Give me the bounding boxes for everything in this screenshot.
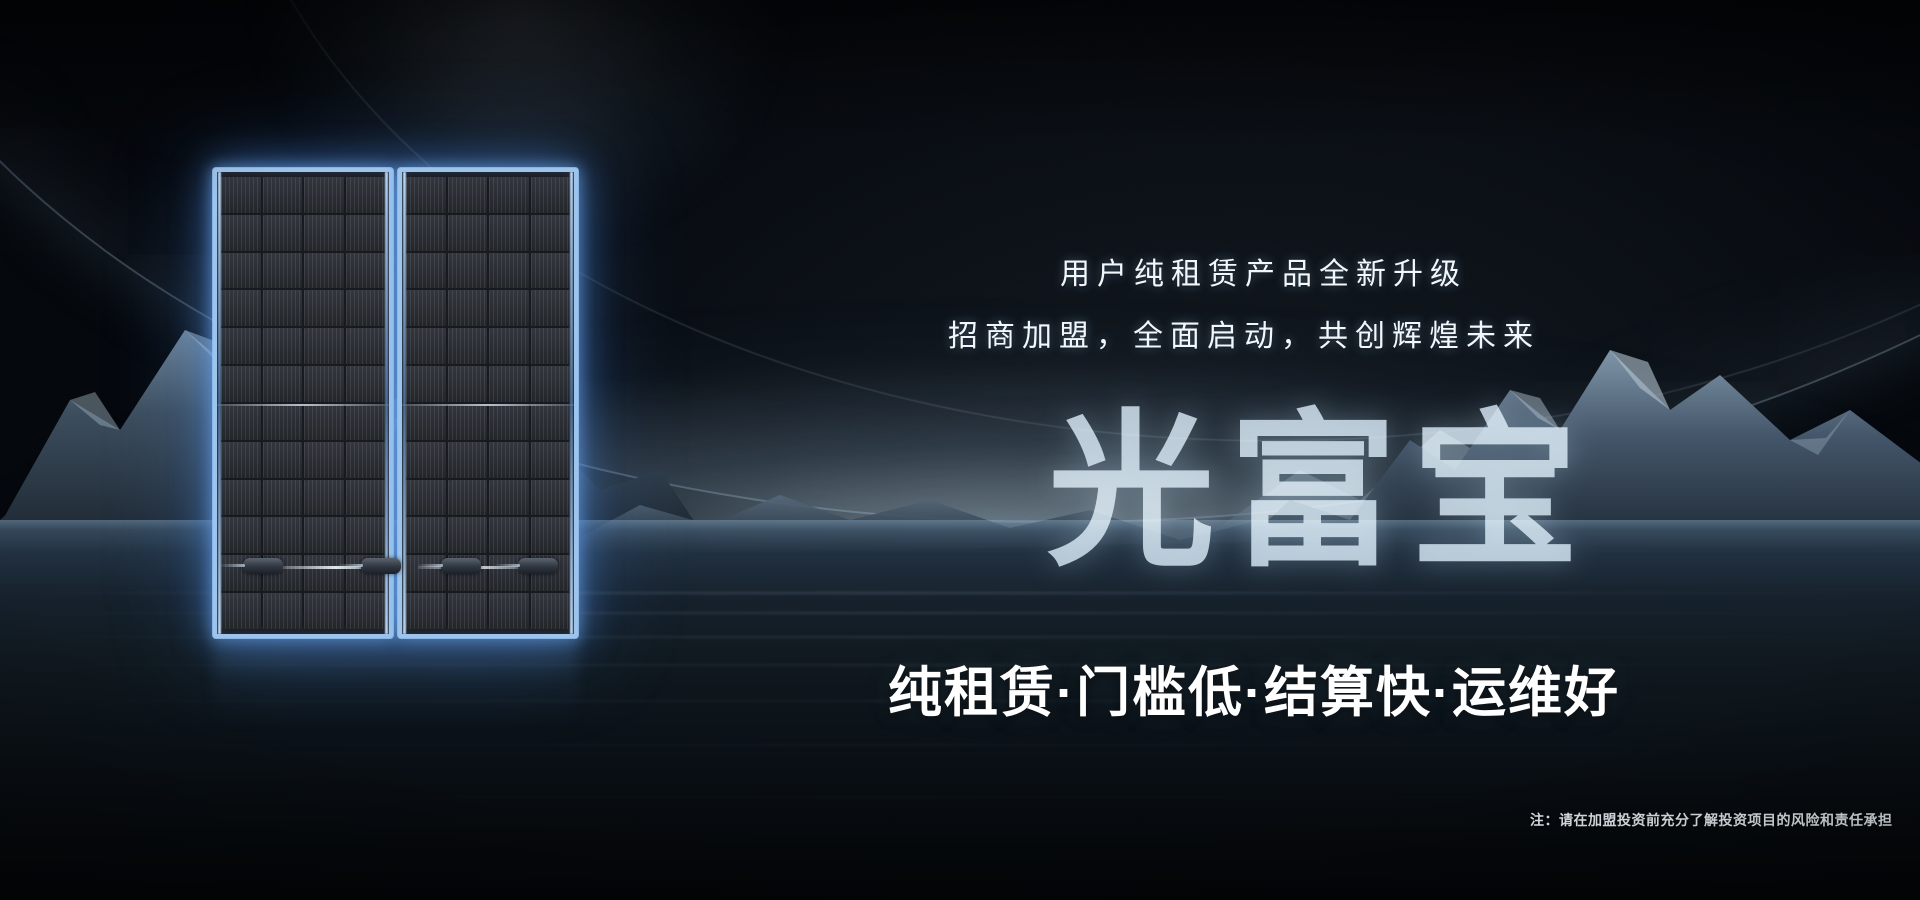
panel-reflection: [213, 640, 578, 730]
tagline: 纯租赁·门槛低·结算快·运维好: [888, 663, 1620, 723]
junction-box: [243, 558, 283, 574]
headline-line-1: 用户纯租赁产品全新升级: [1060, 249, 1467, 293]
junction-box: [441, 558, 481, 574]
water-ripple: [0, 744, 1920, 746]
panel-wiring: [213, 168, 578, 638]
brand-name: 光富宝: [1047, 408, 1593, 576]
junction-box: [361, 558, 401, 574]
disclaimer-note: 注：请在加盟投资前充分了解投资项目的风险和责任承担: [1530, 810, 1893, 830]
water-ripple: [0, 796, 1920, 798]
headline-line-2: 招商加盟，全面启动，共创辉煌未来: [948, 311, 1540, 355]
banner-stage: 用户纯租赁产品全新升级 招商加盟，全面启动，共创辉煌未来 光富宝 纯租赁·门槛低…: [0, 0, 1920, 900]
junction-box: [518, 558, 558, 574]
